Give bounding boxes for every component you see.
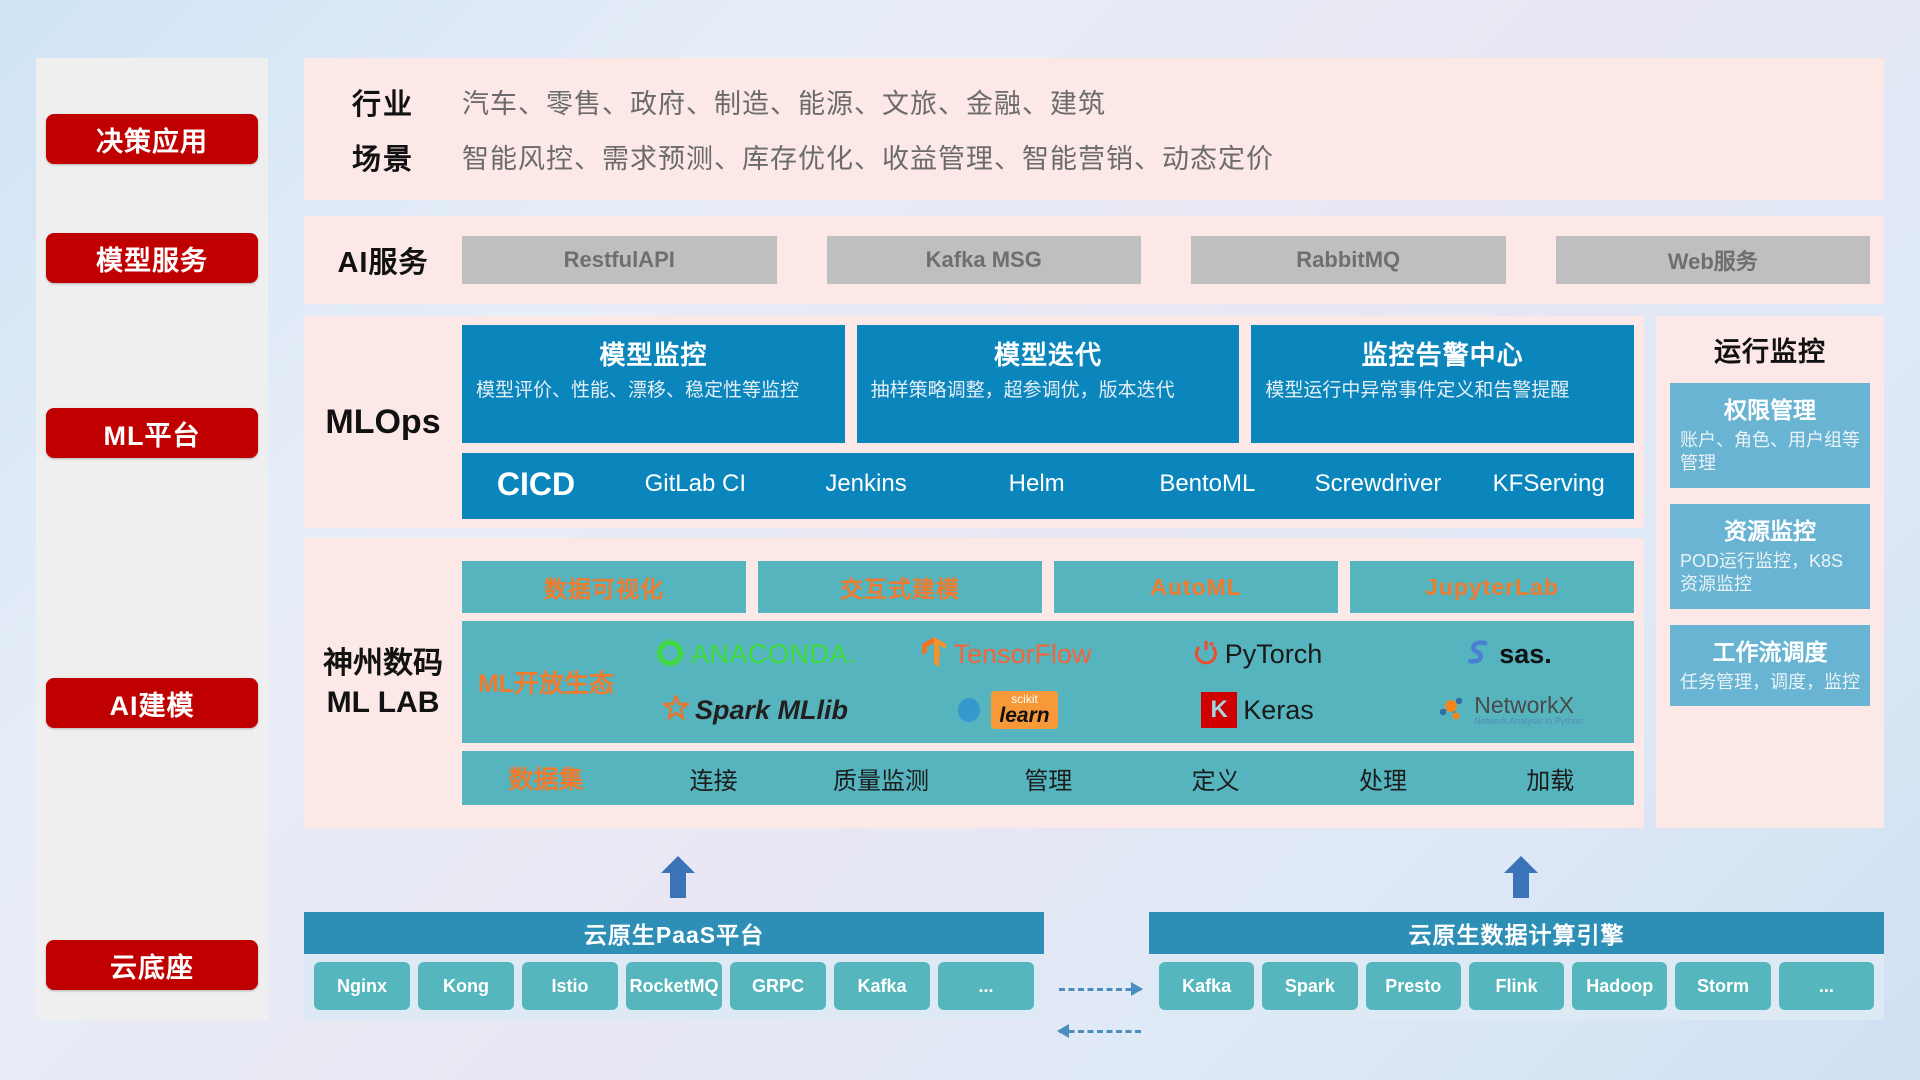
scenario-values: 智能风控、需求预测、库存优化、收益管理、智能营销、动态定价 (462, 137, 1274, 176)
dataset-item-connect[interactable]: 连接 (630, 761, 797, 796)
anaconda-icon (655, 637, 685, 672)
logo-row-1: ANACONDA. TensorFlow PyTor (630, 626, 1634, 682)
paas-chip-rocketmq[interactable]: RocketMQ (626, 962, 722, 1010)
spark-wordmark: Spark MLlib (695, 695, 848, 726)
logo-row-2: Spark MLlib scikit learn (630, 682, 1634, 738)
cicd-item-bentoml[interactable]: BentoML (1122, 453, 1293, 499)
paas-chip-kong[interactable]: Kong (418, 962, 514, 1010)
card-desc: 模型运行中异常事件定义和告警提醒 (1265, 378, 1620, 404)
paas-platform-header: 云原生PaaS平台 (304, 912, 1044, 954)
dataset-item-process[interactable]: 处理 (1299, 761, 1466, 796)
mlops-content: 模型监控 模型评价、性能、漂移、稳定性等监控 模型迭代 抽样策略调整，超参调优，… (462, 315, 1644, 529)
cloud-base-section: 云原生PaaS平台 Nginx Kong Istio RocketMQ GRPC… (304, 890, 1884, 1040)
monitoring-card-workflow[interactable]: 工作流调度 任务管理，调度，监控 (1670, 625, 1870, 706)
engine-chip-spark[interactable]: Spark (1262, 962, 1357, 1010)
scikit-blob-icon (955, 691, 985, 730)
card-desc: 模型评价、性能、漂移、稳定性等监控 (476, 378, 831, 404)
engine-chip-hadoop[interactable]: Hadoop (1572, 962, 1667, 1010)
flow-arrow-left-icon (1059, 1030, 1141, 1032)
logo-pytorch: PyTorch (1132, 637, 1383, 672)
networkx-subtitle: Network Analysis in Python (1474, 717, 1583, 726)
ml-lab-panel: 神州数码 ML LAB 数据可视化 交互式建模 AutoML JupyterLa… (304, 538, 1644, 828)
tool-chip-interactive-modeling[interactable]: 交互式建模 (758, 561, 1042, 613)
open-ecosystem-label: ML开放生态 (462, 664, 630, 700)
stage-pill-ai-modeling[interactable]: AI建模 (46, 678, 258, 728)
networkx-wordmark: NetworkX (1474, 693, 1583, 717)
sas-wordmark: sas. (1499, 639, 1552, 670)
card-title: 模型监控 (476, 335, 831, 372)
card-title: 监控告警中心 (1265, 335, 1620, 372)
logo-networkx: NetworkX Network Analysis in Python (1383, 692, 1634, 729)
dataset-title: 数据集 (462, 760, 630, 796)
stage-pill-label: 云底座 (110, 946, 194, 985)
scenario-key: 场景 (304, 136, 462, 178)
logo-sas: sas. (1383, 637, 1634, 672)
logo-grid: ANACONDA. TensorFlow PyTor (630, 621, 1634, 743)
tensorflow-icon (921, 636, 947, 673)
monitoring-card-permissions[interactable]: 权限管理 账户、角色、用户组等管理 (1670, 383, 1870, 488)
mlops-card-model-iteration[interactable]: 模型迭代 抽样策略调整，超参调优，版本迭代 (857, 325, 1240, 443)
ai-service-panel: AI服务 RestfulAPI Kafka MSG RabbitMQ Web服务 (304, 216, 1884, 304)
monitoring-card-resources[interactable]: 资源监控 POD运行监控，K8S资源监控 (1670, 504, 1870, 609)
logo-keras: K Keras (1132, 692, 1383, 728)
paas-chip-kafka[interactable]: Kafka (834, 962, 930, 1010)
dataset-item-load[interactable]: 加载 (1467, 761, 1634, 796)
card-title: 资源监控 (1680, 512, 1860, 546)
anaconda-wordmark: ANACONDA. (691, 639, 856, 670)
keras-wordmark: Keras (1243, 695, 1314, 726)
monitoring-panel: 运行监控 权限管理 账户、角色、用户组等管理 资源监控 POD运行监控，K8S资… (1656, 316, 1884, 828)
cicd-item-kfserving[interactable]: KFServing (1463, 453, 1634, 499)
dataset-bar: 数据集 连接 质量监测 管理 定义 处理 加载 (462, 751, 1634, 805)
industry-scenario-panel: 行业 汽车、零售、政府、制造、能源、文旅、金融、建筑 场景 智能风控、需求预测、… (304, 58, 1884, 200)
logo-anaconda: ANACONDA. (630, 637, 881, 672)
industry-line: 行业 汽车、零售、政府、制造、能源、文旅、金融、建筑 (304, 74, 1884, 129)
ai-service-chip-kafka-msg[interactable]: Kafka MSG (827, 236, 1142, 284)
cicd-bar: CICD GitLab CI Jenkins Helm BentoML Scre… (462, 453, 1634, 519)
card-desc: 抽样策略调整，超参调优，版本迭代 (871, 378, 1226, 404)
logo-scikit-learn: scikit learn (881, 691, 1132, 730)
tool-chip-jupyterlab[interactable]: JupyterLab (1350, 561, 1634, 613)
mlops-panel: MLOps 模型监控 模型评价、性能、漂移、稳定性等监控 模型迭代 抽样策略调整… (304, 316, 1644, 528)
tool-chip-data-visualization[interactable]: 数据可视化 (462, 561, 746, 613)
cicd-item-jenkins[interactable]: Jenkins (781, 453, 952, 499)
open-ecosystem-band: ML开放生态 ANACONDA. Te (462, 621, 1634, 743)
sas-icon (1465, 637, 1493, 672)
engine-chip-storm[interactable]: Storm (1675, 962, 1770, 1010)
ai-service-chip-rabbitmq[interactable]: RabbitMQ (1191, 236, 1506, 284)
mlops-label: MLOps (304, 403, 462, 442)
industry-values: 汽车、零售、政府、制造、能源、文旅、金融、建筑 (462, 82, 1106, 121)
ai-service-chip-web[interactable]: Web服务 (1556, 236, 1871, 284)
scenario-line: 场景 智能风控、需求预测、库存优化、收益管理、智能营销、动态定价 (304, 129, 1884, 184)
cicd-title: CICD (462, 453, 610, 515)
stage-pill-ml-platform[interactable]: ML平台 (46, 408, 258, 458)
paas-chip-more[interactable]: ... (938, 962, 1034, 1010)
scikit-learn-wordmark: scikit learn (991, 691, 1057, 730)
stage-rail: 决策应用 模型服务 ML平台 AI建模 云底座 (36, 58, 268, 1020)
tool-chip-automl[interactable]: AutoML (1054, 561, 1338, 613)
networkx-icon (1434, 692, 1468, 729)
mlops-card-list: 模型监控 模型评价、性能、漂移、稳定性等监控 模型迭代 抽样策略调整，超参调优，… (462, 325, 1634, 443)
ml-lab-label-line1: 神州数码 (304, 644, 462, 683)
networkx-wordmark-group: NetworkX Network Analysis in Python (1474, 693, 1583, 727)
industry-key: 行业 (304, 81, 462, 123)
keras-icon: K (1201, 692, 1237, 728)
cicd-item-helm[interactable]: Helm (951, 453, 1122, 515)
card-title: 工作流调度 (1680, 633, 1860, 667)
ml-lab-label: 神州数码 ML LAB (304, 644, 462, 722)
stage-pill-model-service[interactable]: 模型服务 (46, 233, 258, 283)
ai-service-chip-restfulapi[interactable]: RestfulAPI (462, 236, 777, 284)
card-desc: 账户、角色、用户组等管理 (1680, 429, 1860, 476)
data-compute-engine-group: 云原生数据计算引擎 Kafka Spark Presto Flink Hadoo… (1149, 912, 1884, 1020)
paas-chip-grpc[interactable]: GRPC (730, 962, 826, 1010)
ai-service-label: AI服务 (304, 239, 462, 281)
pytorch-icon (1193, 637, 1219, 672)
card-desc: POD运行监控，K8S资源监控 (1680, 550, 1860, 597)
dataset-item-define[interactable]: 定义 (1132, 761, 1299, 796)
spark-star-icon (663, 695, 689, 726)
engine-chip-more[interactable]: ... (1779, 962, 1874, 1010)
paas-platform-group: 云原生PaaS平台 Nginx Kong Istio RocketMQ GRPC… (304, 912, 1044, 1020)
stage-pill-label: ML平台 (104, 414, 201, 453)
dataset-item-manage[interactable]: 管理 (965, 761, 1132, 796)
card-desc: 任务管理，调度，监控 (1680, 671, 1860, 694)
mlops-card-model-monitoring[interactable]: 模型监控 模型评价、性能、漂移、稳定性等监控 (462, 325, 845, 443)
data-engine-items: Kafka Spark Presto Flink Hadoop Storm ..… (1149, 954, 1884, 1020)
stage-pill-decision[interactable]: 决策应用 (46, 114, 258, 164)
data-engine-header: 云原生数据计算引擎 (1149, 912, 1884, 954)
card-title: 权限管理 (1680, 391, 1860, 425)
engine-chip-kafka[interactable]: Kafka (1159, 962, 1254, 1010)
engine-chip-flink[interactable]: Flink (1469, 962, 1564, 1010)
stage-pill-label: 决策应用 (96, 120, 208, 159)
card-title: 模型迭代 (871, 335, 1226, 372)
stage-pill-label: 模型服务 (96, 239, 208, 278)
ml-lab-content: 数据可视化 交互式建模 AutoML JupyterLab ML开放生态 ANA… (462, 551, 1644, 815)
ai-service-items: RestfulAPI Kafka MSG RabbitMQ Web服务 (462, 236, 1884, 284)
pytorch-wordmark: PyTorch (1225, 639, 1323, 670)
engine-chip-presto[interactable]: Presto (1366, 962, 1461, 1010)
logo-tensorflow: TensorFlow (881, 636, 1132, 673)
monitoring-title: 运行监控 (1670, 330, 1870, 369)
tensorflow-wordmark: TensorFlow (953, 639, 1091, 670)
mlops-card-alert-center[interactable]: 监控告警中心 模型运行中异常事件定义和告警提醒 (1251, 325, 1634, 443)
paas-platform-items: Nginx Kong Istio RocketMQ GRPC Kafka ... (304, 954, 1044, 1020)
ml-lab-tool-list: 数据可视化 交互式建模 AutoML JupyterLab (462, 561, 1634, 613)
stage-pill-cloud-base[interactable]: 云底座 (46, 940, 258, 990)
flow-arrow-right-icon (1059, 988, 1141, 990)
cicd-item-screwdriver[interactable]: Screwdriver (1293, 453, 1464, 499)
cicd-item-gitlab-ci[interactable]: GitLab CI (610, 453, 781, 515)
ml-lab-label-line2: ML LAB (304, 683, 462, 722)
logo-spark-mllib: Spark MLlib (630, 695, 881, 726)
paas-chip-nginx[interactable]: Nginx (314, 962, 410, 1010)
stage-pill-label: AI建模 (110, 684, 195, 723)
paas-chip-istio[interactable]: Istio (522, 962, 618, 1010)
dataset-item-quality-monitor[interactable]: 质量监测 (797, 761, 964, 796)
